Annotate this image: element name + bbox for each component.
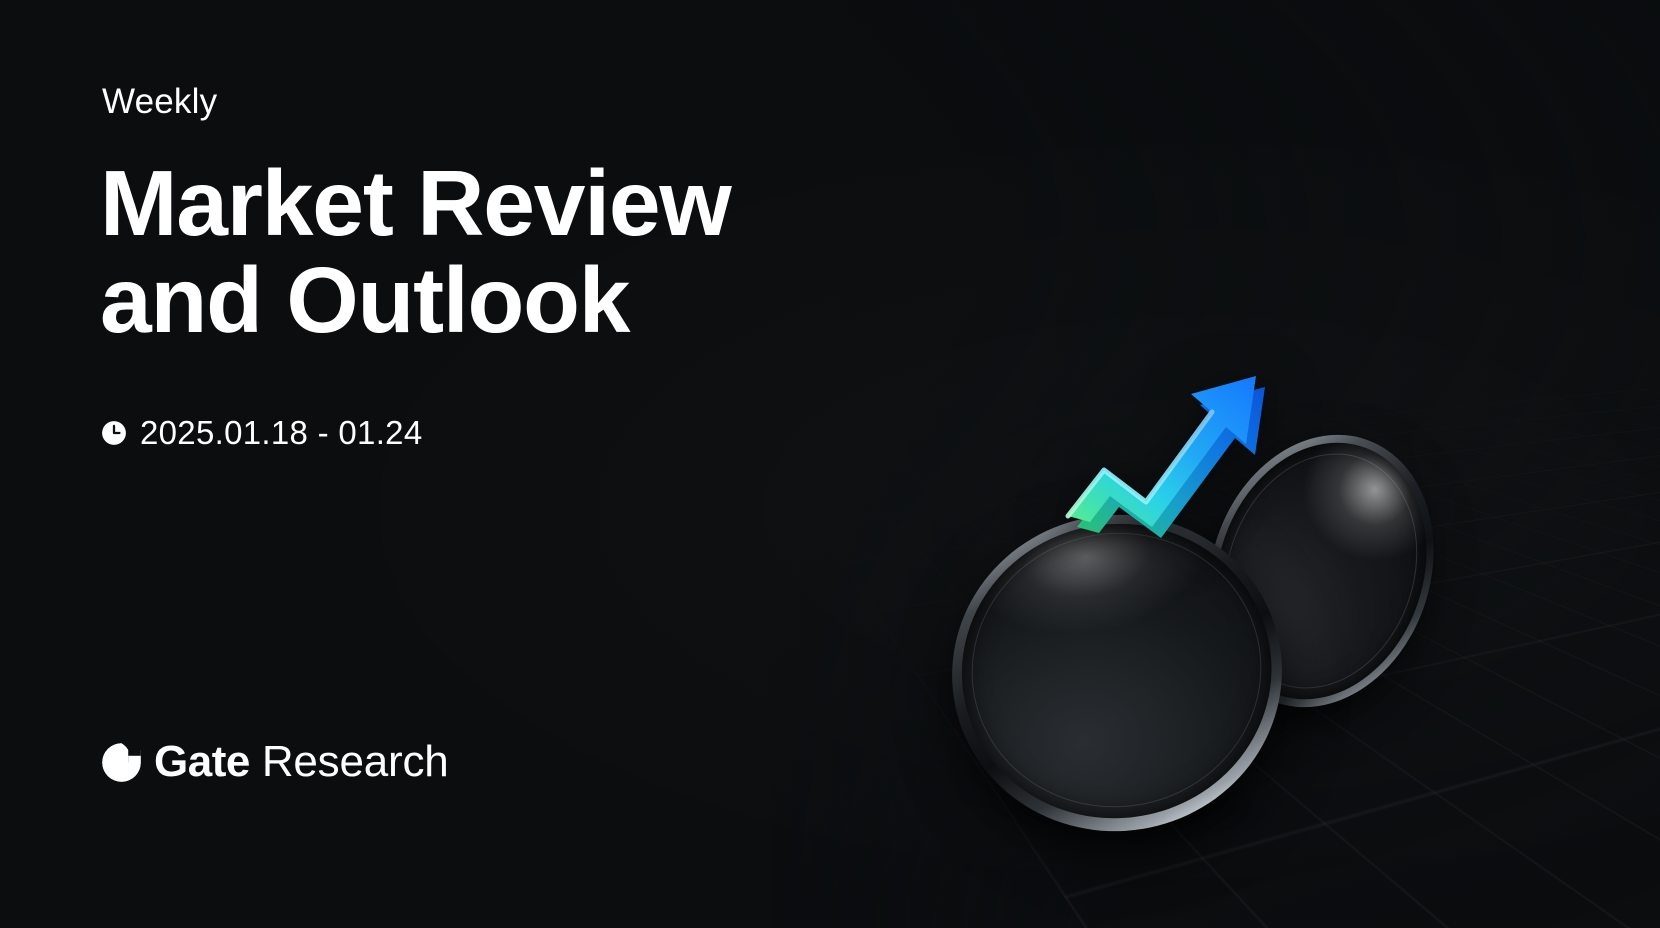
logo-brand-gate: Gate [154, 740, 250, 784]
eyebrow-label: Weekly [102, 84, 217, 119]
gate-research-logo: Gate Research [100, 740, 449, 784]
artwork-3d-coins [940, 320, 1500, 860]
clock-icon [101, 420, 127, 446]
page-title: Market Review and Outlook [100, 155, 731, 348]
date-range-text: 2025.01.18 - 01.24 [140, 416, 422, 449]
logo-wordmark: Gate Research [154, 740, 449, 784]
logo-product-research: Research [262, 740, 449, 784]
date-range-row: 2025.01.18 - 01.24 [101, 416, 422, 449]
growth-arrow-icon [1060, 320, 1460, 620]
text-content: Weekly Market Review and Outlook 2025.01… [100, 0, 1000, 928]
gate-logo-mark [100, 741, 143, 784]
banner: Weekly Market Review and Outlook 2025.01… [0, 0, 1660, 928]
